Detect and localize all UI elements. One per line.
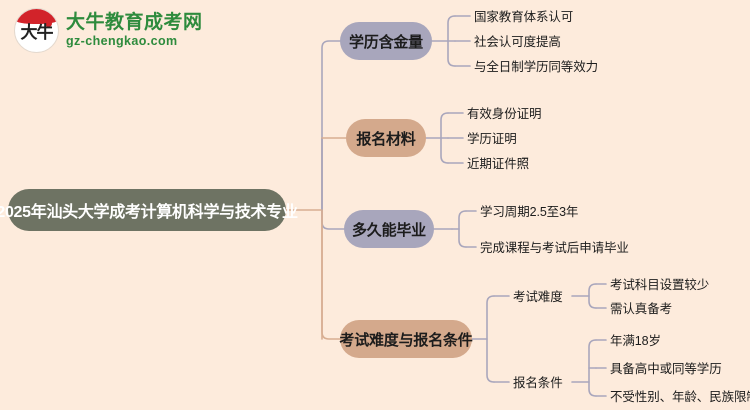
site-logo[interactable]: 大牛 大牛教育成考网 gz-chengkao.com: [14, 8, 203, 53]
connector-b1-bracket: [448, 16, 455, 66]
leaf-item: 近期证件照: [467, 158, 529, 171]
leaf-item: 有效身份证明: [467, 108, 541, 121]
logo-text-block: 大牛教育成考网 gz-chengkao.com: [66, 12, 203, 49]
root-node[interactable]: 2025年汕头大学成考计算机科学与技术专业: [8, 189, 286, 231]
leaf-item: 年满18岁: [610, 335, 661, 348]
leaf-item: 学历证明: [467, 133, 517, 146]
leaf-item: 与全日制学历同等效力: [474, 61, 598, 74]
branch-node-3[interactable]: 多久能毕业: [344, 210, 434, 248]
leaf-item: 不受性别、年龄、民族限制: [610, 391, 750, 404]
leaf-item: 国家教育体系认可: [474, 11, 573, 24]
logo-subtitle: gz-chengkao.com: [66, 34, 203, 49]
branch-node-4[interactable]: 考试难度与报名条件: [340, 320, 472, 358]
connector-branch-1: [322, 41, 340, 210]
connector-g2-bracket: [589, 340, 596, 396]
leaf-item: 需认真备考: [610, 303, 672, 316]
mindmap-canvas: 大牛 大牛教育成考网 gz-chengkao.com 2025年汕头大学成考计算…: [0, 0, 750, 410]
connector-b4-bracket: [487, 296, 494, 382]
connector-b2-bracket: [441, 113, 448, 163]
branch-node-2[interactable]: 报名材料: [346, 119, 426, 157]
connector-branch-4: [322, 210, 340, 339]
leaf-item: 具备高中或同等学历: [610, 363, 722, 376]
connector-branch-3: [322, 210, 344, 229]
logo-title: 大牛教育成考网: [66, 12, 203, 34]
leaf-item: 考试科目设置较少: [610, 279, 709, 292]
leaf-item: 学习周期2.5至3年: [480, 206, 578, 219]
connector-g1-bracket: [589, 284, 596, 308]
subgroup-label[interactable]: 报名条件: [513, 377, 563, 390]
leaf-item: 完成课程与考试后申请毕业: [480, 242, 629, 255]
logo-mark-text: 大牛: [21, 25, 53, 42]
logo-tail-shape: [24, 45, 38, 53]
leaf-item: 社会认可度提高: [474, 36, 561, 49]
connector-b3-bracket: [459, 211, 466, 247]
branch-node-1[interactable]: 学历含金量: [340, 22, 432, 60]
subgroup-label[interactable]: 考试难度: [513, 291, 563, 304]
logo-bubble-icon: 大牛: [14, 8, 59, 53]
